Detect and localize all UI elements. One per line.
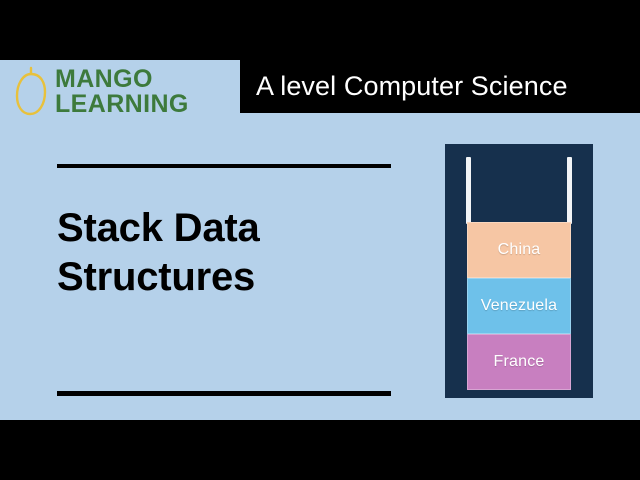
letterbox-top (0, 0, 640, 60)
mango-outline-icon (14, 64, 48, 120)
letterbox-bottom (0, 420, 640, 480)
headline-block: Stack Data Structures (57, 164, 391, 302)
headline-rule-top (57, 164, 391, 168)
stack-item-bottom: France (467, 334, 571, 390)
stack-item-top: China (467, 222, 571, 278)
stack-rail-left (466, 157, 471, 224)
stack-diagram: China Venezuela France (445, 144, 593, 398)
stack-item-label: Venezuela (481, 297, 558, 315)
slide-canvas: MANGO LEARNING A level Computer Science … (0, 60, 640, 420)
slide: MANGO LEARNING A level Computer Science … (0, 0, 640, 480)
brand-text: MANGO LEARNING (55, 67, 189, 118)
brand-line-1: MANGO (55, 67, 189, 93)
page-title: Stack Data Structures (57, 204, 391, 302)
brand-line-2: LEARNING (55, 92, 189, 118)
course-banner: A level Computer Science (240, 60, 640, 113)
stack-rail-right (567, 157, 572, 224)
course-banner-label: A level Computer Science (240, 71, 568, 102)
stack-item-label: China (498, 241, 541, 259)
stack-items: China Venezuela France (467, 222, 571, 390)
brand-logo: MANGO LEARNING (14, 64, 189, 120)
stack-item-label: France (494, 353, 545, 371)
stack-item-middle: Venezuela (467, 278, 571, 334)
headline-rule-bottom (57, 391, 391, 396)
